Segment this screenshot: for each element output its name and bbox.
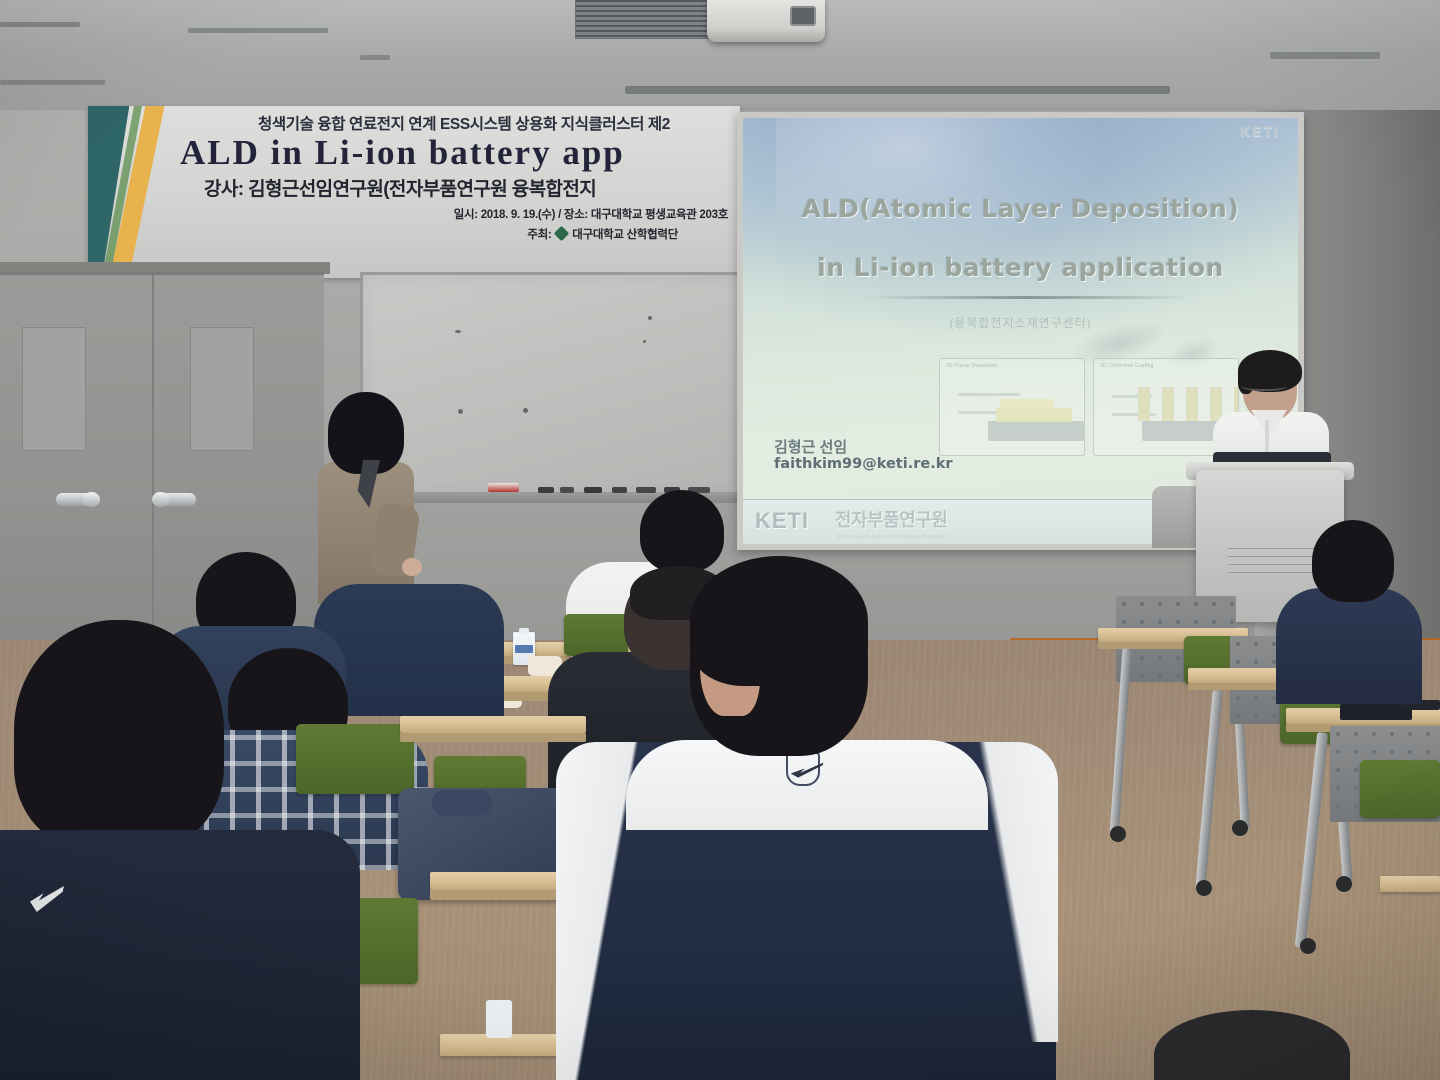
ceiling-seam <box>0 22 80 27</box>
diagram-label <box>958 393 1020 396</box>
ceiling-seam <box>360 55 390 60</box>
audience-person-head <box>1312 520 1394 602</box>
banner-title: ALD in Li-ion battery app <box>174 133 740 173</box>
whiteboard <box>360 272 751 500</box>
slide-title-line-2: in Li-ion battery application <box>743 253 1298 282</box>
lecture-hall-photo: 청색기술 융합 연료전지 연계 ESS시스템 상용화 지식클러스터 제2 ALD… <box>0 0 1440 1080</box>
paper-cup[interactable] <box>486 1000 512 1038</box>
slide-title-line-1: ALD(Atomic Layer Deposition) <box>743 194 1298 223</box>
desk-edge <box>400 733 586 742</box>
desk <box>1380 876 1440 892</box>
ceiling-seam <box>1270 52 1380 59</box>
whiteboard-mark <box>458 409 463 414</box>
whiteboard-marker[interactable] <box>612 487 627 493</box>
diagram-film-top <box>1000 399 1054 409</box>
diagram-film <box>996 408 1072 422</box>
standing-staff-woman <box>312 392 416 602</box>
desk <box>400 716 586 733</box>
whiteboard-mark <box>455 330 461 333</box>
ceiling-seam <box>0 80 105 85</box>
chair[interactable] <box>1360 760 1440 818</box>
woman-hand <box>402 558 422 576</box>
projector-glow <box>776 118 1109 263</box>
keti-footer-english: Korea Electronics Technology Institute <box>837 534 944 540</box>
banner-lecturer: 강사: 김형근선임연구원(전자부품연구원 융복합전지 <box>174 174 740 201</box>
banner-datetime-place: 일시: 2018. 9. 19.(수) / 장소: 대구대학교 평생교육관 20… <box>174 206 740 222</box>
whiteboard-marker[interactable] <box>636 487 656 493</box>
whiteboard-marker[interactable] <box>584 487 602 493</box>
daegu-university-emblem-icon <box>554 226 570 242</box>
woman-bangs <box>352 396 396 426</box>
backpack-handle <box>432 790 492 816</box>
chair[interactable] <box>296 724 414 794</box>
banner-program-line: 청색기술 융합 연료전지 연계 ESS시스템 상용화 지식클러스터 제2 <box>174 112 740 134</box>
whiteboard-marker[interactable] <box>538 487 554 493</box>
slide-diagram: 2D Planar Deposition 3D Conformal Coatin… <box>939 358 1239 456</box>
nike-shield-icon <box>786 752 820 786</box>
banner-host-row: 주최: 대구대학교 산학협력단 <box>174 226 740 242</box>
keti-footer-logo-icon: KETI <box>755 508 809 534</box>
desk-caster <box>1232 820 1248 836</box>
door-handle-right[interactable] <box>152 493 196 506</box>
diagram-substrate <box>988 421 1084 441</box>
ceiling-seam <box>625 86 1170 94</box>
ceiling-projector <box>707 0 825 42</box>
event-banner: 청색기술 융합 연료전지 연계 ESS시스템 상용화 지식클러스터 제2 ALD… <box>88 106 740 278</box>
desk-caster <box>1336 876 1352 892</box>
door-handle-left[interactable] <box>56 493 100 506</box>
foreground-person-torso <box>0 830 360 1080</box>
desk-caster <box>1196 880 1212 896</box>
door-split <box>152 275 154 675</box>
chair[interactable] <box>564 614 628 656</box>
banner-host-label: 주최: <box>527 229 551 241</box>
audience-person-torso <box>1276 588 1422 704</box>
keti-footer-korean: 전자부품연구원 <box>835 506 947 532</box>
diagram-box-left: 2D Planar Deposition <box>939 358 1085 456</box>
diagram-caption-right: 3D Conformal Coating <box>1100 363 1153 369</box>
keti-logo-icon: KETI <box>1240 123 1280 139</box>
whiteboard-mark <box>643 340 646 343</box>
door-window-left <box>22 327 86 451</box>
desk-caster <box>1300 938 1316 954</box>
banner-host-name: 대구대학교 산학협력단 <box>572 229 678 241</box>
audience-person-head <box>640 490 724 572</box>
whiteboard-mark <box>523 408 528 413</box>
door-window-right <box>190 327 254 451</box>
podium-vent-lines <box>1228 548 1324 580</box>
desk-caster <box>1110 826 1126 842</box>
ceiling-seam <box>188 28 328 33</box>
slide-presenter-name: 김형근 선임 <box>774 436 847 457</box>
slide-presenter-email: faithkim99@keti.re.kr <box>774 456 953 472</box>
foreground-person-hair <box>690 556 868 686</box>
foreground-person-head <box>14 620 224 850</box>
whiteboard-mark <box>648 316 652 320</box>
glasses-icon <box>1241 378 1287 391</box>
diagram-caption-left: 2D Planar Deposition <box>946 363 997 369</box>
whiteboard-eraser[interactable] <box>488 483 519 492</box>
projector-lens <box>790 6 816 26</box>
whiteboard-marker[interactable] <box>560 487 574 493</box>
